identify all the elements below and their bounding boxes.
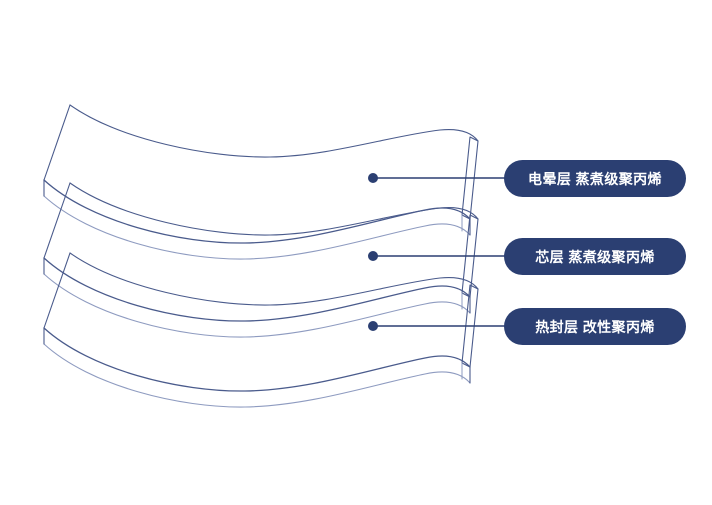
label-pill-corona-text: 电晕层 蒸煮级聚丙烯 <box>528 169 662 189</box>
label-pill-heat-seal-text: 热封层 改性聚丙烯 <box>535 317 655 337</box>
sheet-layer-core <box>44 183 478 337</box>
connector-group-heat-seal <box>368 321 524 331</box>
sheet-layer-corona <box>44 105 478 259</box>
connector-dot-heat-seal <box>368 321 378 331</box>
label-pill-heat-seal[interactable]: 热封层 改性聚丙烯 <box>504 308 686 345</box>
label-pill-corona[interactable]: 电晕层 蒸煮级聚丙烯 <box>504 160 686 197</box>
diagram-canvas: 电晕层 蒸煮级聚丙烯 芯层 蒸煮级聚丙烯 热封层 改性聚丙烯 <box>0 0 712 505</box>
connector-dot-corona <box>368 173 378 183</box>
connector-dot-core <box>368 251 378 261</box>
sheet-layer-heat-seal <box>44 253 478 407</box>
connector-group-core <box>368 251 524 261</box>
label-pill-core-text: 芯层 蒸煮级聚丙烯 <box>535 247 655 267</box>
label-pill-core[interactable]: 芯层 蒸煮级聚丙烯 <box>504 238 686 275</box>
connector-group-corona <box>368 173 524 183</box>
